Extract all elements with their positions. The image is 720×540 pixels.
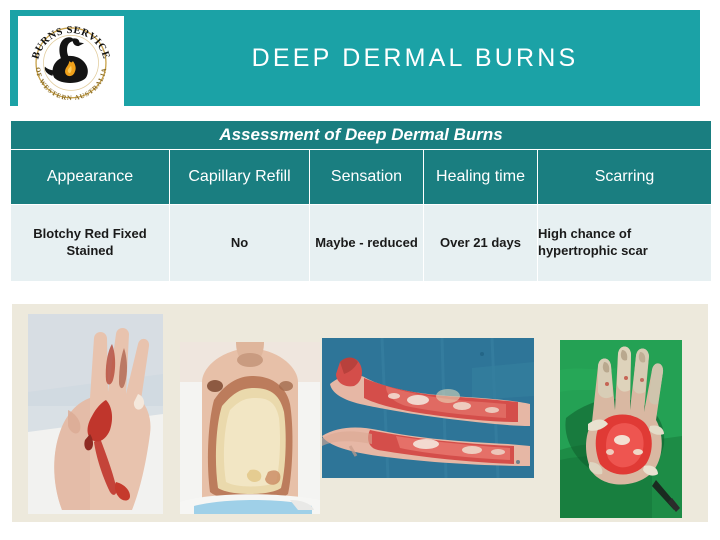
- svg-text:BURNS SERVICE: BURNS SERVICE: [30, 25, 111, 61]
- photo-hand-dorsum-deep-dermal-burn: [28, 314, 163, 514]
- photo-palm-deep-dermal-burn: [560, 340, 682, 518]
- cell-sensation: Maybe - reduced: [310, 205, 423, 281]
- slide-header-bar: BURNS SERVICE OF WESTERN AUSTRALIA DEEP …: [10, 10, 700, 106]
- table-caption: Assessment of Deep Dermal Burns: [11, 121, 711, 149]
- page-title: DEEP DERMAL BURNS: [130, 10, 700, 106]
- column-header-scarring: Scarring: [538, 150, 711, 204]
- cell-appearance: Blotchy Red Fixed Stained: [11, 205, 169, 281]
- photo-strip: [12, 304, 708, 522]
- assessment-table: Assessment of Deep Dermal Burns Appearan…: [10, 120, 712, 282]
- table-caption-row: Assessment of Deep Dermal Burns: [11, 121, 711, 149]
- column-header-healing-time: Healing time: [424, 150, 537, 204]
- cell-capillary-refill: No: [170, 205, 309, 281]
- column-header-capillary-refill: Capillary Refill: [170, 150, 309, 204]
- cell-healing-time: Over 21 days: [424, 205, 537, 281]
- table-row: Blotchy Red Fixed Stained No Maybe - red…: [11, 205, 711, 281]
- table-header-row: Appearance Capillary Refill Sensation He…: [11, 150, 711, 204]
- logo-container: BURNS SERVICE OF WESTERN AUSTRALIA: [18, 16, 124, 106]
- bottom-spacer: [0, 522, 720, 540]
- cell-scarring: High chance of hypertrophic scar: [538, 205, 711, 281]
- burns-service-logo-icon: BURNS SERVICE OF WESTERN AUSTRALIA: [24, 20, 118, 102]
- column-header-sensation: Sensation: [310, 150, 423, 204]
- photo-chest-abdomen-deep-dermal-burn: [180, 342, 320, 514]
- photo-both-legs-deep-dermal-burn: [322, 338, 534, 478]
- column-header-appearance: Appearance: [11, 150, 169, 204]
